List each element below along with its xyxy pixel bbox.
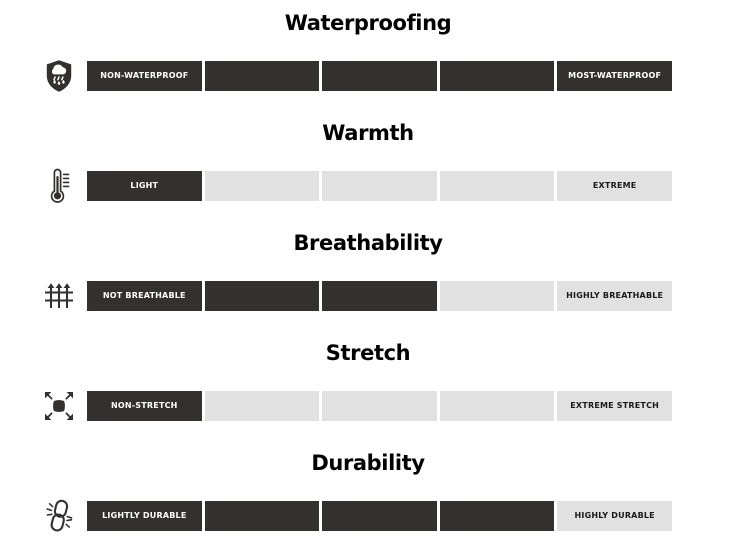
rating-segment-1[interactable]: LIGHTLY DURABLE <box>87 501 202 531</box>
thermometer-icon <box>38 166 80 206</box>
spec-title: Waterproofing <box>0 4 736 34</box>
rating-segment-label: LIGHTLY DURABLE <box>102 512 186 520</box>
spec-row: WaterproofingNON-WATERPROOFMOST-WATERPRO… <box>0 4 736 114</box>
rating-bar: NOT BREATHABLEHIGHLY BREATHABLE <box>87 281 672 311</box>
rating-bar: NON-WATERPROOFMOST-WATERPROOF <box>87 61 672 91</box>
rating-segment-label: NOT BREATHABLE <box>103 292 186 300</box>
rain-shield-icon <box>38 56 80 96</box>
rating-segment-4[interactable] <box>440 391 555 421</box>
rating-segment-label: EXTREME <box>593 182 637 190</box>
rating-segment-3[interactable] <box>322 61 437 91</box>
rating-segment-3[interactable] <box>322 391 437 421</box>
rating-segment-1[interactable]: NON-WATERPROOF <box>87 61 202 91</box>
rating-segment-label: EXTREME STRETCH <box>570 402 659 410</box>
airflow-icon <box>38 276 80 316</box>
spec-row: StretchNON-STRETCHEXTREME STRETCH <box>0 334 736 444</box>
spec-row: WarmthLIGHTEXTREME <box>0 114 736 224</box>
rating-segment-2[interactable] <box>205 501 320 531</box>
rating-segment-5[interactable]: HIGHLY DURABLE <box>557 501 672 531</box>
spec-scale: NON-STRETCHEXTREME STRETCH <box>0 386 736 426</box>
rating-segment-label: HIGHLY DURABLE <box>575 512 655 520</box>
spec-scale: NON-WATERPROOFMOST-WATERPROOF <box>0 56 736 96</box>
chain-link-icon <box>38 496 80 536</box>
rating-segment-1[interactable]: NOT BREATHABLE <box>87 281 202 311</box>
rating-segment-label: MOST-WATERPROOF <box>568 72 661 80</box>
rating-segment-5[interactable]: EXTREME STRETCH <box>557 391 672 421</box>
rating-segment-3[interactable] <box>322 171 437 201</box>
spec-title: Durability <box>0 444 736 474</box>
rating-segment-2[interactable] <box>205 171 320 201</box>
rating-segment-2[interactable] <box>205 61 320 91</box>
spec-scale: LIGHTEXTREME <box>0 166 736 206</box>
rating-segment-4[interactable] <box>440 281 555 311</box>
rating-segment-label: HIGHLY BREATHABLE <box>566 292 663 300</box>
spec-scale: NOT BREATHABLEHIGHLY BREATHABLE <box>0 276 736 316</box>
rating-segment-5[interactable]: HIGHLY BREATHABLE <box>557 281 672 311</box>
rating-bar: LIGHTEXTREME <box>87 171 672 201</box>
stretch-arrows-icon <box>38 386 80 426</box>
rating-segment-2[interactable] <box>205 391 320 421</box>
rating-bar: LIGHTLY DURABLEHIGHLY DURABLE <box>87 501 672 531</box>
rating-segment-2[interactable] <box>205 281 320 311</box>
spec-row: DurabilityLIGHTLY DURABLEHIGHLY DURABLE <box>0 444 736 546</box>
rating-segment-label: NON-WATERPROOF <box>100 72 188 80</box>
rating-segment-3[interactable] <box>322 281 437 311</box>
spec-rating-list: WaterproofingNON-WATERPROOFMOST-WATERPRO… <box>0 0 736 546</box>
spec-title: Breathability <box>0 224 736 254</box>
spec-scale: LIGHTLY DURABLEHIGHLY DURABLE <box>0 496 736 536</box>
spec-row: BreathabilityNOT BREATHABLEHIGHLY BREATH… <box>0 224 736 334</box>
rating-segment-5[interactable]: MOST-WATERPROOF <box>557 61 672 91</box>
rating-segment-4[interactable] <box>440 61 555 91</box>
spec-title: Stretch <box>0 334 736 364</box>
rating-segment-5[interactable]: EXTREME <box>557 171 672 201</box>
rating-segment-4[interactable] <box>440 501 555 531</box>
rating-segment-1[interactable]: NON-STRETCH <box>87 391 202 421</box>
spec-title: Warmth <box>0 114 736 144</box>
rating-segment-3[interactable] <box>322 501 437 531</box>
rating-segment-label: NON-STRETCH <box>111 402 178 410</box>
rating-segment-1[interactable]: LIGHT <box>87 171 202 201</box>
rating-bar: NON-STRETCHEXTREME STRETCH <box>87 391 672 421</box>
rating-segment-4[interactable] <box>440 171 555 201</box>
rating-segment-label: LIGHT <box>130 182 158 190</box>
